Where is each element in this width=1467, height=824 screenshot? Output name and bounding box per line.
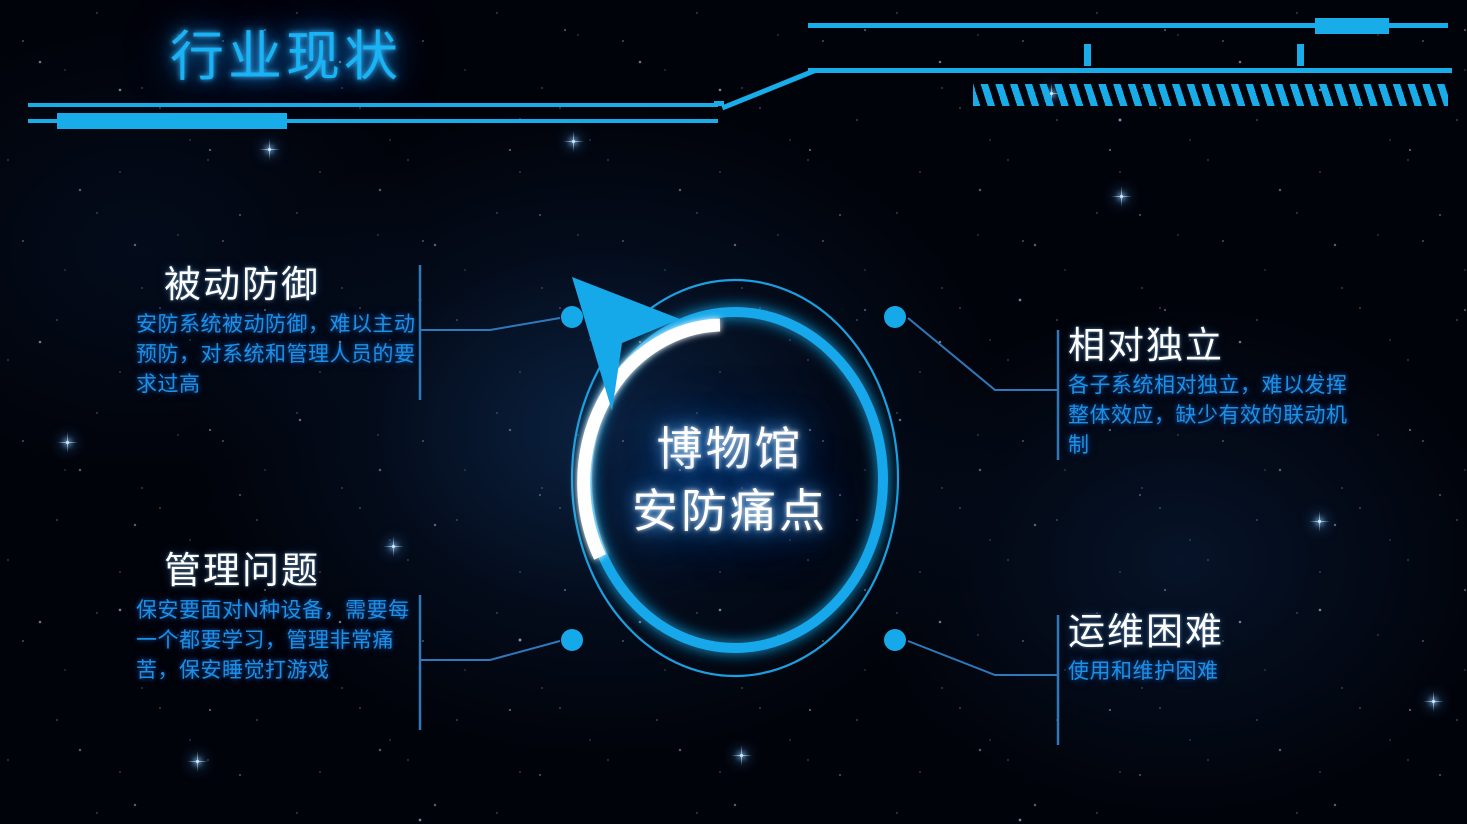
bright-star-icon [1432, 700, 1435, 703]
header-tick-mark-icon [1084, 44, 1091, 66]
orbit-dot-bottom-right [884, 629, 906, 651]
callout-management-problem: 管理问题 保安要面对N种设备，需要每一个都要学习，管理非常痛苦，保安睡觉打游戏 [136, 548, 422, 686]
callout-body: 保安要面对N种设备，需要每一个都要学习，管理非常痛苦，保安睡觉打游戏 [136, 596, 422, 686]
header-accent-block [57, 113, 287, 129]
diagonal-hatch-band [973, 84, 1448, 106]
bright-star-icon [268, 148, 271, 151]
pain-point-ring-graphic [490, 215, 980, 715]
header-rule-bottom-right [808, 68, 1452, 73]
callout-heading: 相对独立 [1068, 323, 1368, 369]
callout-heading: 被动防御 [136, 262, 422, 308]
bright-star-icon [196, 760, 199, 763]
orbit-dot-bottom-left [561, 629, 583, 651]
header-accent-block-right [1315, 18, 1389, 34]
callout-body: 安防系统被动防御，难以主动预防，对系统和管理人员的要求过高 [136, 310, 422, 400]
bright-star-icon [66, 441, 69, 444]
bright-star-icon [1120, 195, 1123, 198]
callout-heading: 管理问题 [136, 548, 422, 594]
callout-body: 使用和维护困难 [1068, 657, 1368, 687]
header-rule-top-left [28, 103, 718, 107]
orbit-dot-top-left [561, 306, 583, 328]
callout-passive-defense: 被动防御 安防系统被动防御，难以主动预防，对系统和管理人员的要求过高 [136, 262, 422, 400]
callout-body: 各子系统相对独立，难以发挥整体效应，缺少有效的联动机制 [1068, 371, 1368, 461]
bright-star-icon [572, 140, 575, 143]
header-tick-mark-icon [1297, 44, 1304, 66]
callout-operation-difficulty: 运维困难 使用和维护困难 [1068, 609, 1368, 687]
header-diagonal-cap [714, 101, 724, 106]
bright-star-icon [740, 754, 743, 757]
orbit-dot-top-right [884, 306, 906, 328]
callout-heading: 运维困难 [1068, 609, 1368, 655]
page-title: 行业现状 [170, 12, 402, 91]
bright-star-icon [1318, 520, 1321, 523]
header-diagonal-connector [721, 68, 816, 110]
callout-relatively-independent: 相对独立 各子系统相对独立，难以发挥整体效应，缺少有效的联动机制 [1068, 323, 1368, 461]
slide-canvas: 行业现状 [0, 0, 1467, 824]
